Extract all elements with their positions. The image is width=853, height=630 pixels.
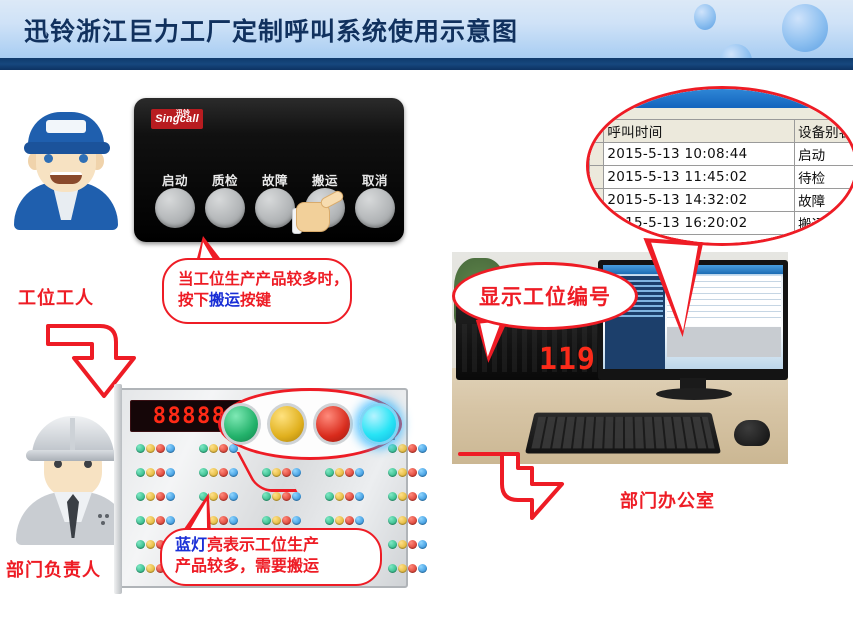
arrow-office-up bbox=[458, 448, 578, 545]
table-row-empty bbox=[590, 235, 853, 247]
hand-index-finger bbox=[319, 189, 345, 210]
callout-transport-post: 按键 bbox=[240, 292, 271, 309]
table-header-index bbox=[590, 120, 604, 143]
singcall-logo-cn: 迅铃 bbox=[176, 108, 190, 118]
avatar-eye-left bbox=[44, 154, 53, 163]
records-magnifier: 呼叫时间 设备别名 2015-5-13 10:08:44 启动 2015-5-1… bbox=[586, 86, 853, 246]
call-button-label-start: 启动 bbox=[152, 170, 198, 189]
records-window-toolbar bbox=[595, 108, 853, 119]
slide-canvas: 迅铃浙江巨力工厂定制呼叫系统使用示意图 工位工人 Singcall 迅铃 启动 … bbox=[0, 0, 853, 630]
decorative-circle-icon bbox=[694, 4, 716, 30]
led-group bbox=[136, 468, 175, 477]
table-row: 2015-5-13 14:32:02 故障 bbox=[590, 189, 853, 212]
led-group bbox=[262, 492, 301, 501]
call-button-start[interactable] bbox=[155, 188, 195, 228]
avatar-badge-dots bbox=[98, 514, 114, 530]
callout-transport-pre: 按下 bbox=[178, 292, 209, 309]
callout-blue-lamp: 蓝灯亮表示工位生产 产品较多，需要搬运 bbox=[160, 528, 382, 586]
led-group bbox=[325, 492, 364, 501]
cell-index bbox=[590, 212, 604, 235]
keyboard-keys bbox=[531, 417, 714, 449]
callout-blue-lamp-line2: 产品较多，需要搬运 bbox=[175, 557, 367, 578]
led-group bbox=[136, 492, 175, 501]
cell-device: 故障 bbox=[795, 189, 853, 212]
led-group bbox=[199, 468, 238, 477]
table-header-row: 呼叫时间 设备别名 bbox=[590, 120, 853, 143]
cell-index bbox=[590, 143, 604, 166]
callout-transport: 当工位生产产品较多时， 按下搬运按键 bbox=[162, 258, 352, 324]
cell-device: 搬运 bbox=[795, 212, 853, 235]
mouse bbox=[734, 420, 770, 446]
led-row bbox=[136, 492, 427, 501]
records-window-titlebar bbox=[595, 89, 853, 108]
lamp-blue-icon bbox=[359, 403, 399, 445]
led-group bbox=[388, 492, 427, 501]
avatar-eye-right bbox=[79, 154, 88, 163]
cell-index bbox=[590, 166, 604, 189]
avatar-workstation-worker bbox=[10, 108, 122, 230]
call-panel-device[interactable]: Singcall 迅铃 启动 质检 故障 搬运 取消 bbox=[134, 98, 404, 242]
callout-blue-lamp-line1: 蓝灯亮表示工位生产 bbox=[175, 536, 367, 557]
records-window: 呼叫时间 设备别名 2015-5-13 10:08:44 启动 2015-5-1… bbox=[586, 89, 853, 246]
callout-transport-highlight: 搬运 bbox=[209, 292, 240, 309]
table-header-time: 呼叫时间 bbox=[604, 120, 795, 143]
page-title: 迅铃浙江巨力工厂定制呼叫系统使用示意图 bbox=[24, 12, 518, 48]
table-row: 2015-5-13 10:08:44 启动 bbox=[590, 143, 853, 166]
call-button-label-quality: 质检 bbox=[202, 170, 248, 189]
led-group bbox=[388, 564, 427, 573]
records-magnifier-tail bbox=[637, 238, 704, 338]
cell-device: 待检 bbox=[795, 166, 853, 189]
caption-department-office: 部门办公室 bbox=[620, 487, 715, 513]
avatar-cap-logo bbox=[46, 120, 86, 133]
cell-time: 2015-5-13 16:20:02 bbox=[604, 212, 795, 235]
call-button-fault[interactable] bbox=[255, 188, 295, 228]
call-button-label-cancel: 取消 bbox=[352, 170, 398, 189]
led-group bbox=[388, 468, 427, 477]
hard-hat-brim bbox=[26, 450, 120, 461]
avatar-eye-right bbox=[84, 460, 92, 468]
avatar-cap-brim bbox=[24, 142, 110, 154]
call-button-quality[interactable] bbox=[205, 188, 245, 228]
table-header-device: 设备别名 bbox=[795, 120, 853, 143]
callout-station-number: 显示工位编号 bbox=[452, 262, 638, 330]
cell-time: 2015-5-13 14:32:02 bbox=[604, 189, 795, 212]
led-group bbox=[388, 444, 427, 453]
decorative-circle-icon bbox=[720, 44, 752, 58]
led-row bbox=[136, 516, 427, 525]
lamp-yellow-icon bbox=[267, 403, 307, 445]
hard-hat-ridge bbox=[70, 418, 75, 452]
led-group bbox=[199, 444, 238, 453]
callout-lamp-zoom bbox=[218, 388, 402, 460]
avatar-eye-left bbox=[54, 460, 62, 468]
table-row: 2015-5-13 11:45:02 待检 bbox=[590, 166, 853, 189]
led-group bbox=[262, 516, 301, 525]
led-group bbox=[136, 444, 175, 453]
lamp-green-icon bbox=[221, 403, 261, 445]
led-sign-value: 119 bbox=[539, 342, 596, 377]
cell-time: 2015-5-13 11:45:02 bbox=[604, 166, 795, 189]
led-group bbox=[136, 516, 175, 525]
page-header: 迅铃浙江巨力工厂定制呼叫系统使用示意图 bbox=[0, 0, 853, 58]
caption-department-manager: 部门负责人 bbox=[6, 556, 101, 582]
avatar-mouth bbox=[50, 172, 82, 184]
cell-device: 启动 bbox=[795, 143, 853, 166]
table-row: 2015-5-13 16:20:02 搬运 bbox=[590, 212, 853, 235]
callout-transport-line2: 按下搬运按键 bbox=[178, 291, 336, 312]
led-group bbox=[325, 516, 364, 525]
callout-transport-line1: 当工位生产产品较多时， bbox=[178, 270, 336, 291]
monitor-stand-base bbox=[656, 388, 732, 400]
header-accent-bar bbox=[0, 58, 853, 70]
led-group bbox=[325, 468, 364, 477]
pointing-hand-icon bbox=[292, 186, 344, 240]
cell-time: 2015-5-13 10:08:44 bbox=[604, 143, 795, 166]
lamp-red-icon bbox=[313, 403, 353, 445]
cell-index bbox=[590, 189, 604, 212]
led-group bbox=[388, 540, 427, 549]
callout-blue-lamp-highlight: 蓝灯 bbox=[175, 537, 207, 554]
decorative-circle-icon bbox=[782, 4, 828, 52]
call-button-cancel[interactable] bbox=[355, 188, 395, 228]
led-group bbox=[388, 516, 427, 525]
call-records-table: 呼叫时间 设备别名 2015-5-13 10:08:44 启动 2015-5-1… bbox=[589, 119, 853, 246]
callout-blue-lamp-post: 亮表示工位生产 bbox=[207, 537, 319, 554]
caption-workstation-worker: 工位工人 bbox=[18, 284, 94, 310]
